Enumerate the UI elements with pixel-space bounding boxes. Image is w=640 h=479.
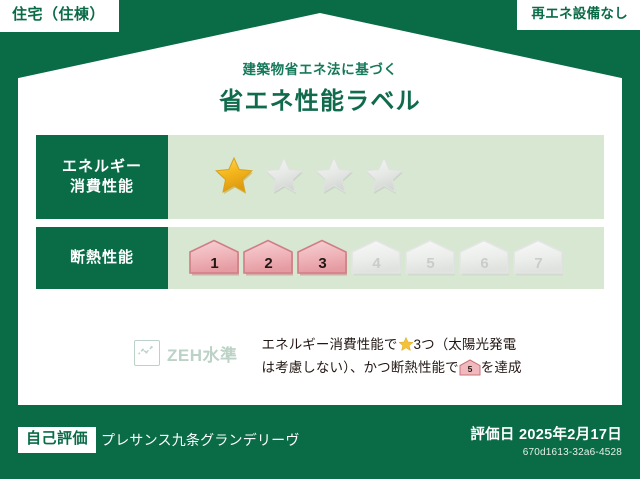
evaluation-id: 670d1613-32a6-4528 [470, 447, 622, 458]
row-insulation-label-line1: 断熱性能 [70, 248, 134, 268]
inline-house-level-icon: 5 [459, 359, 481, 376]
insulation-level-scale: 1234567 [188, 239, 565, 277]
title-block: 建築物省エネ法に基づく 省エネ性能ラベル [18, 58, 622, 116]
row-insulation-performance: 断熱性能 1234567 [36, 227, 604, 289]
energy-label-card: 住宅（住棟） 再エネ設備なし 建築物省エネ法に基づく 省エネ性能ラベル エネルギ… [0, 0, 640, 479]
insulation-level-number: 5 [426, 255, 434, 277]
inline-house-level-number: 5 [467, 364, 472, 374]
footer-right: 評価日 2025年2月17日 670d1613-32a6-4528 [470, 423, 622, 458]
zeh-badge-label: ZEH水準 [167, 341, 238, 366]
zeh-desc-text-2b: を達成 [481, 360, 522, 375]
row-energy-label-line1: エネルギー [62, 157, 142, 177]
badge-renewable-energy: 再エネ設備なし [517, 0, 640, 30]
zeh-section: ZEH水準 エネルギー消費性能で3つ（太陽光発電 は考慮しない）、かつ断熱性能で… [36, 333, 604, 379]
footer-left: 自己評価 プレサンス九条グランデリーヴ [18, 427, 300, 453]
title-subtitle: 建築物省エネ法に基づく [18, 58, 622, 78]
row-energy-label-line2: 消費性能 [70, 177, 134, 197]
insulation-level-number: 3 [318, 255, 326, 277]
row-insulation-label: 断熱性能 [36, 227, 168, 289]
self-evaluation-badge: 自己評価 [18, 427, 96, 453]
star-empty-icon [310, 154, 358, 200]
row-energy-performance: エネルギー 消費性能 [36, 135, 604, 219]
zeh-desc-text-2a: は考慮しない）、かつ断熱性能で [262, 360, 459, 375]
insulation-level-number: 2 [264, 255, 272, 277]
insulation-level-number: 7 [534, 255, 542, 277]
insulation-level-number: 6 [480, 255, 488, 277]
insulation-level-7: 7 [512, 239, 565, 277]
zeh-desc-text-1a: エネルギー消費性能で [262, 337, 398, 352]
insulation-level-number: 1 [210, 255, 218, 277]
zeh-badge: ZEH水準 [134, 340, 238, 366]
insulation-level-2: 2 [242, 239, 295, 277]
badge-building-type: 住宅（住棟） [0, 0, 119, 32]
footer-bar: 自己評価 プレサンス九条グランデリーヴ 評価日 2025年2月17日 670d1… [0, 405, 640, 479]
rating-rows: エネルギー 消費性能 断熱性能 1234567 [36, 135, 604, 297]
zeh-description-line1: エネルギー消費性能で3つ（太陽光発電 [262, 333, 522, 356]
building-name: プレサンス九条グランデリーヴ [101, 430, 300, 450]
insulation-level-4: 4 [350, 239, 403, 277]
insulation-level-5: 5 [404, 239, 457, 277]
insulation-level-3: 3 [296, 239, 349, 277]
insulation-level-number: 4 [372, 255, 380, 277]
evaluation-date: 評価日 2025年2月17日 [470, 423, 622, 444]
star-empty-icon [360, 154, 408, 200]
zeh-description-line2: は考慮しない）、かつ断熱性能で5を達成 [262, 356, 522, 379]
title-main: 省エネ性能ラベル [18, 81, 622, 116]
row-insulation-value: 1234567 [168, 227, 604, 289]
insulation-level-1: 1 [188, 239, 241, 277]
star-rating [210, 154, 408, 200]
zeh-description: エネルギー消費性能で3つ（太陽光発電 は考慮しない）、かつ断熱性能で5を達成 [262, 333, 522, 379]
insulation-level-6: 6 [458, 239, 511, 277]
star-filled-icon [210, 154, 258, 200]
zeh-desc-text-1b: 3つ（太陽光発電 [414, 337, 517, 352]
zeh-house-icon [134, 340, 160, 366]
inline-star-icon [398, 336, 414, 352]
row-energy-value [168, 135, 604, 219]
row-energy-label: エネルギー 消費性能 [36, 135, 168, 219]
star-empty-icon [260, 154, 308, 200]
